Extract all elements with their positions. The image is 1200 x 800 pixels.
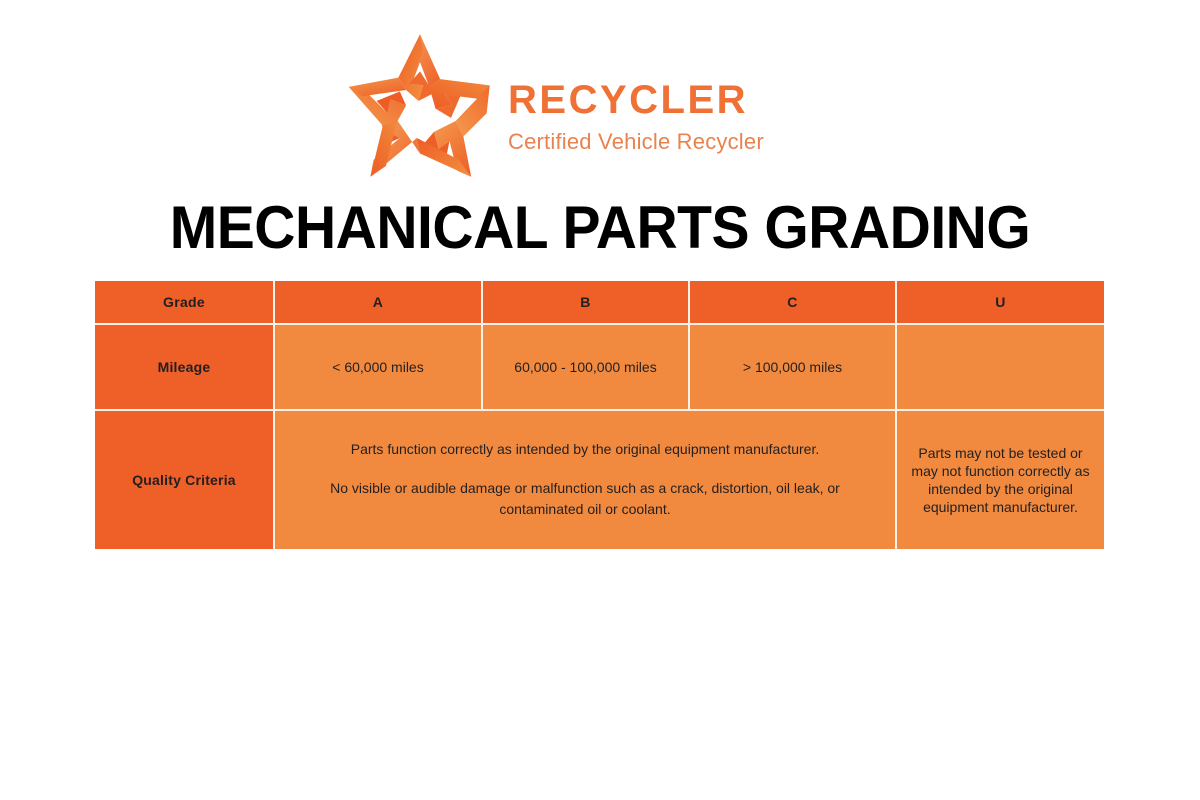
brand-logo: RECYCLER Certified Vehicle Recycler xyxy=(340,28,770,183)
cell-mileage-b: 60,000 - 100,000 miles xyxy=(483,325,690,411)
row-header-mileage: Mileage xyxy=(95,325,275,411)
quality-criteria-line-2: No visible or audible damage or malfunct… xyxy=(293,478,877,521)
row-header-quality-criteria: Quality Criteria xyxy=(95,411,275,549)
grading-table: Grade A B C U Mileage < 60,000 miles 60,… xyxy=(95,281,1104,549)
brand-name: RECYCLER xyxy=(508,80,764,120)
table-header: Grade A B C U xyxy=(95,281,1104,325)
page-title: MECHANICAL PARTS GRADING xyxy=(30,195,1170,261)
quality-criteria-line-1: Parts function correctly as intended by … xyxy=(293,439,877,461)
brand-tagline: Certified Vehicle Recycler xyxy=(508,127,764,157)
column-header-c: C xyxy=(690,281,897,325)
column-header-grade: Grade xyxy=(95,281,275,325)
cell-mileage-a: < 60,000 miles xyxy=(275,325,483,411)
cell-quality-criteria-u: Parts may not be tested or may not funct… xyxy=(897,411,1104,549)
brand-logo-text: RECYCLER Certified Vehicle Recycler xyxy=(508,54,764,157)
cell-mileage-c: > 100,000 miles xyxy=(690,325,897,411)
column-header-u: U xyxy=(897,281,1104,325)
table-header-row: Grade A B C U xyxy=(95,281,1104,325)
cell-quality-criteria-abc: Parts function correctly as intended by … xyxy=(275,411,897,549)
column-header-a: A xyxy=(275,281,483,325)
page-root: RECYCLER Certified Vehicle Recycler MECH… xyxy=(0,0,1200,800)
cell-mileage-u xyxy=(897,325,1104,411)
table-row-mileage: Mileage < 60,000 miles 60,000 - 100,000 … xyxy=(95,325,1104,411)
table-body: Mileage < 60,000 miles 60,000 - 100,000 … xyxy=(95,325,1104,549)
column-header-b: B xyxy=(483,281,690,325)
table-row-quality-criteria: Quality Criteria Parts function correctl… xyxy=(95,411,1104,549)
recycling-star-logo-icon xyxy=(340,28,500,183)
